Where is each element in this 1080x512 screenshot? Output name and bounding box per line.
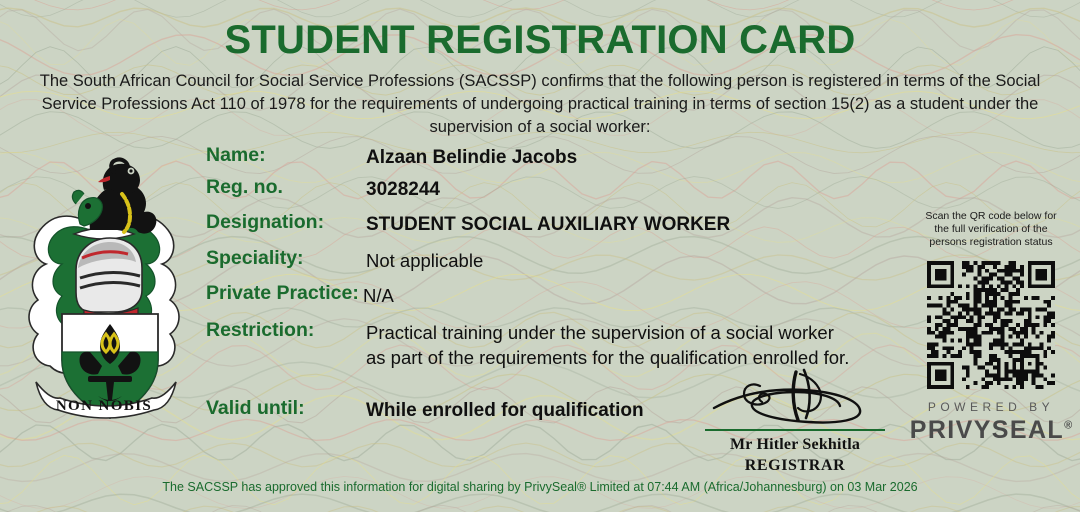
- signature-block: Mr Hitler Sekhitla REGISTRAR: [690, 368, 900, 475]
- field-value-speciality: Not applicable: [366, 248, 483, 273]
- field-value-designation: STUDENT SOCIAL AUXILIARY WORKER: [366, 212, 730, 237]
- coat-of-arms-icon: NON NOBIS: [18, 138, 190, 420]
- field-label-speciality: Speciality:: [206, 247, 304, 270]
- signature-icon: [700, 368, 890, 428]
- field-value-reg-no: 3028244: [366, 177, 440, 202]
- qr-instruction-text: Scan the QR code below for the full veri…: [908, 210, 1074, 249]
- privyseal-logo: PRIVYSEAL®: [908, 416, 1074, 445]
- field-label-designation: Designation:: [206, 211, 324, 234]
- field-value-name: Alzaan Belindie Jacobs: [366, 145, 577, 170]
- field-value-valid-until: While enrolled for qualification: [366, 398, 644, 423]
- field-label-private-practice: Private Practice:: [206, 282, 359, 305]
- field-value-restriction: Practical training under the supervision…: [366, 320, 849, 370]
- field-row-name: Name: Alzaan Belindie Jacobs: [206, 144, 906, 176]
- page-title: STUDENT REGISTRATION CARD: [0, 18, 1080, 63]
- privyseal-wordmark: PRIVYSEAL: [910, 416, 1064, 444]
- registrar-role: REGISTRAR: [690, 457, 900, 475]
- field-label-restriction: Restriction:: [206, 319, 314, 342]
- field-label-name: Name:: [206, 144, 266, 167]
- field-row-reg-no: Reg. no. 3028244: [206, 176, 906, 211]
- field-row-designation: Designation: STUDENT SOCIAL AUXILIARY WO…: [206, 211, 906, 247]
- powered-by-label: POWERED BY: [908, 400, 1074, 414]
- motto-text: NON NOBIS: [56, 398, 152, 414]
- intro-paragraph: The South African Council for Social Ser…: [30, 70, 1050, 139]
- field-label-valid-until: Valid until:: [206, 397, 305, 420]
- registered-trademark-icon: ®: [1064, 420, 1072, 432]
- qr-code[interactable]: [927, 261, 1055, 389]
- qr-panel: Scan the QR code below for the full veri…: [908, 210, 1074, 445]
- field-row-private-practice: Private Practice: N/A: [206, 282, 906, 319]
- signature-line: [705, 429, 885, 431]
- footer-approval-text: The SACSSP has approved this information…: [0, 480, 1080, 494]
- lion-crest: [72, 159, 156, 233]
- field-label-reg-no: Reg. no.: [206, 176, 283, 199]
- registrar-name: Mr Hitler Sekhitla: [690, 436, 900, 454]
- student-registration-card: STUDENT REGISTRATION CARD The South Afri…: [0, 0, 1080, 512]
- field-row-speciality: Speciality: Not applicable: [206, 247, 906, 282]
- field-value-private-practice: N/A: [363, 283, 394, 308]
